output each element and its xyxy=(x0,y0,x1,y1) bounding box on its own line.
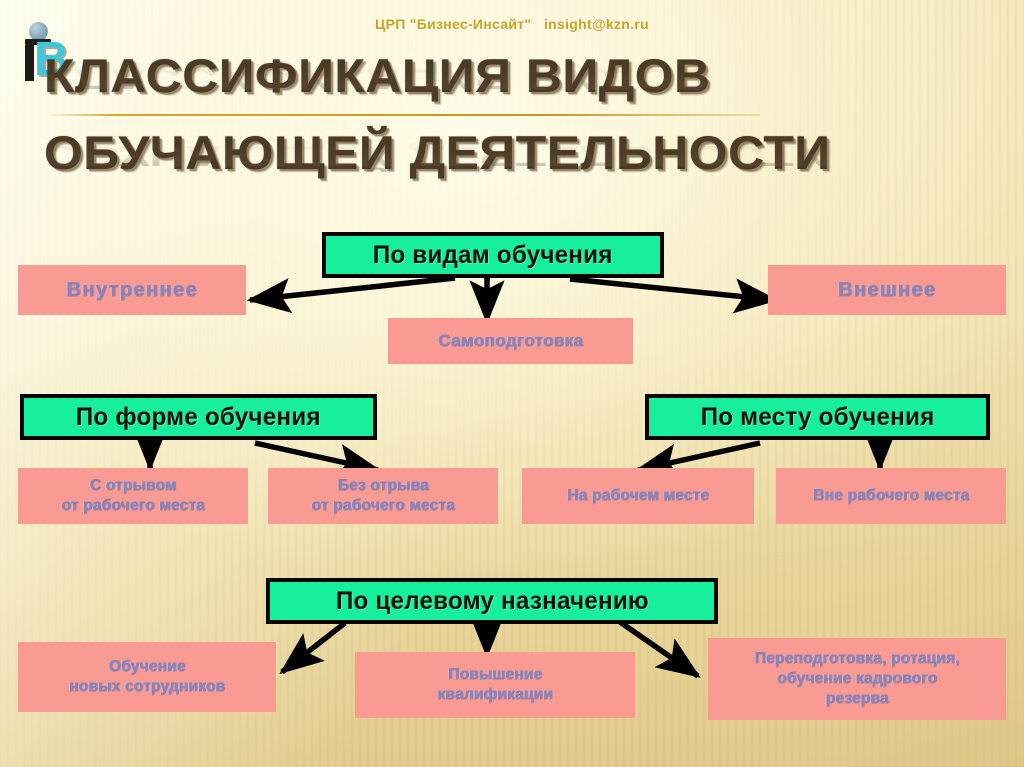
arrow-g1-to-vneshnee xyxy=(570,279,775,300)
node-heading-po-celevomu-naznacheniyu-label: По целевому назначению xyxy=(335,587,648,616)
node-vneshnee-label: Внешнее xyxy=(838,277,936,303)
node-bez-otryva-line2: от рабочего места xyxy=(311,496,454,516)
title-line-2-text: ОБУЧАЮЩЕЙ ДЕЯТЕЛЬНОСТИ xyxy=(44,127,1024,179)
node-heading-po-mestu-obucheniya-label: По месту обучения xyxy=(701,403,935,432)
node-obuchenie-novyh-line2: новых сотрудников xyxy=(69,677,225,697)
node-samopodgotovka[interactable]: Самоподготовка xyxy=(388,318,633,364)
logo-i-stem-icon xyxy=(25,45,34,81)
title-line-1-text: КЛАССИФИКАЦИЯ ВИДОВ xyxy=(44,50,1024,102)
arrow-g2-to-bez-otryva xyxy=(255,443,378,470)
node-heading-po-forme-obucheniya[interactable]: По форме обучения xyxy=(20,394,377,440)
node-s-otryvom-line2: от рабочего места xyxy=(61,496,204,516)
title-line-1: КЛАССИФИКАЦИЯ ВИДОВ КЛАССИФИКАЦИЯ ВИДОВ xyxy=(44,50,984,109)
page-title: КЛАССИФИКАЦИЯ ВИДОВ КЛАССИФИКАЦИЯ ВИДОВ … xyxy=(44,50,984,186)
node-vnutrennee-label: Внутреннее xyxy=(66,277,197,303)
node-heading-po-celevomu-naznacheniyu[interactable]: По целевому назначению xyxy=(266,578,718,624)
node-povyshenie-line2: квалификации xyxy=(437,685,553,705)
node-vneshnee[interactable]: Внешнее xyxy=(768,265,1006,315)
node-perepodgotovka-line2: обучение кадрового xyxy=(777,669,937,689)
node-vne-rabochego-mesta[interactable]: Вне рабочего места xyxy=(776,468,1006,524)
node-bez-otryva-ot-rabochego-mesta[interactable]: Без отрыва от рабочего места xyxy=(268,468,498,524)
arrow-g4-to-obuchenie-novyh xyxy=(282,623,345,672)
node-vnutrennee[interactable]: Внутреннее xyxy=(18,265,246,315)
node-heading-po-vidam-obucheniya-label: По видам обучения xyxy=(373,241,613,270)
node-obuchenie-novyh-line1: Обучение xyxy=(109,657,186,677)
node-povyshenie-kvalifikacii[interactable]: Повышение квалификации xyxy=(355,652,635,718)
node-perepodgotovka-rotaciya[interactable]: Переподготовка, ротация, обучение кадров… xyxy=(708,638,1006,720)
node-heading-po-forme-obucheniya-label: По форме обучения xyxy=(76,403,321,432)
title-divider-rule xyxy=(44,114,760,116)
node-s-otryvom-line1: С отрывом xyxy=(90,476,177,496)
title-line-2: ОБУЧАЮЩЕЙ ДЕЯТЕЛЬНОСТИ ОБУЧАЮЩЕЙ ДЕЯТЕЛЬ… xyxy=(44,127,984,186)
arrow-g3-to-na-rabochem xyxy=(638,443,760,470)
node-heading-po-mestu-obucheniya[interactable]: По месту обучения xyxy=(645,394,990,440)
node-s-otryvom-ot-rabochego-mesta[interactable]: С отрывом от рабочего места xyxy=(18,468,248,524)
node-obuchenie-novyh-sotrudnikov[interactable]: Обучение новых сотрудников xyxy=(18,642,276,712)
slide-canvas: B ЦРП "Бизнес-Инсайт" insight@kzn.ru КЛА… xyxy=(0,0,1024,767)
node-heading-po-vidam-obucheniya[interactable]: По видам обучения xyxy=(322,232,664,278)
node-bez-otryva-line1: Без отрыва xyxy=(337,476,428,496)
node-samopodgotovka-label: Самоподготовка xyxy=(438,330,583,352)
node-povyshenie-line1: Повышение xyxy=(448,665,542,685)
arrow-g1-to-vnutrennee xyxy=(250,278,455,300)
node-perepodgotovka-line3: резерва xyxy=(825,689,888,709)
node-vne-rabochego-mesta-label: Вне рабочего места xyxy=(813,486,969,506)
node-na-rabochem-meste[interactable]: На рабочем месте xyxy=(522,468,754,524)
node-na-rabochem-meste-label: На рабочем месте xyxy=(567,486,709,506)
org-contact-line: ЦРП "Бизнес-Инсайт" insight@kzn.ru xyxy=(0,16,1024,32)
node-perepodgotovka-line1: Переподготовка, ротация, xyxy=(755,649,960,669)
